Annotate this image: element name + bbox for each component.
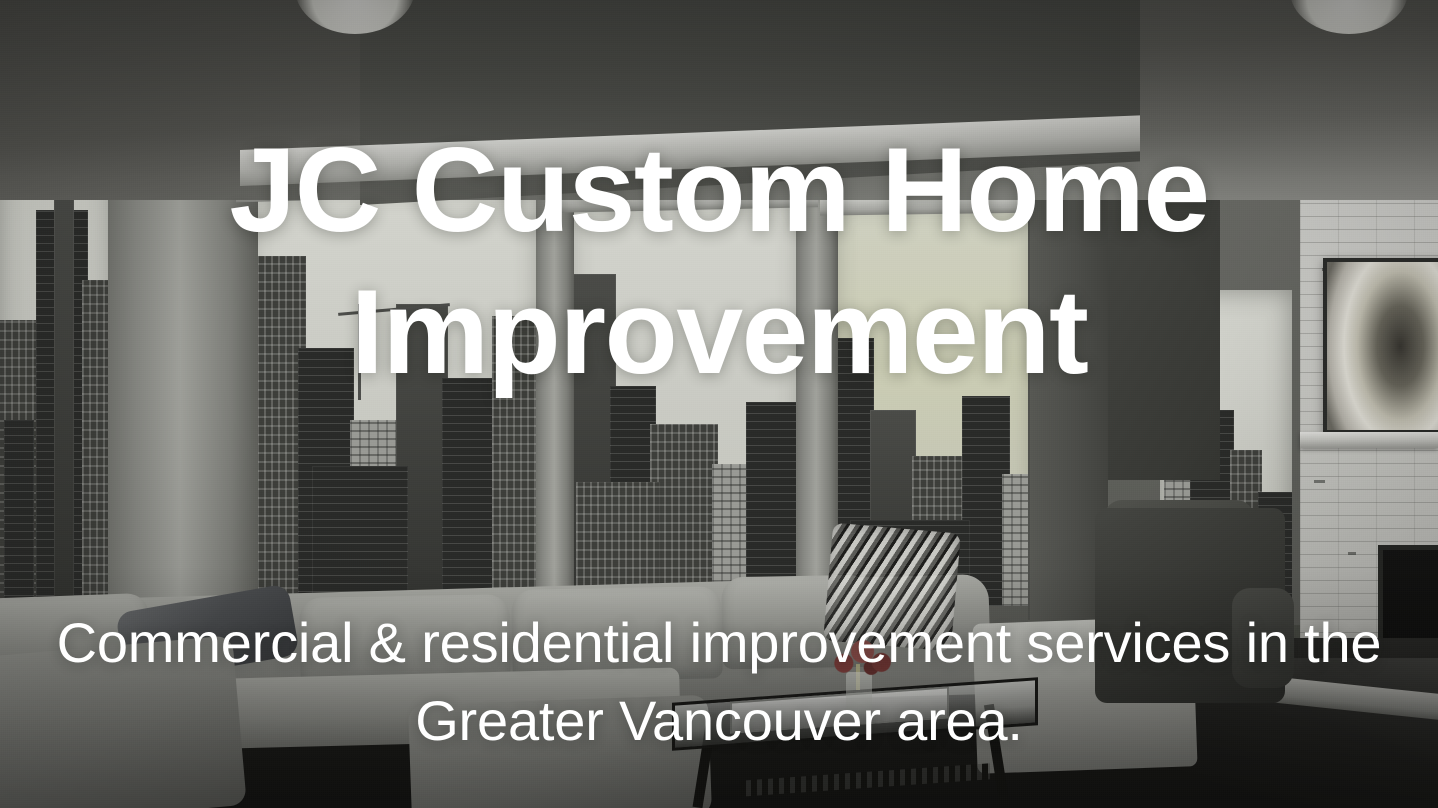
window-pane-center-right [566,196,804,614]
sofa-pillow-patterned [823,523,961,652]
window-pane-left [0,168,114,620]
title-slide: JC Custom Home Improvement Commercial & … [0,0,1438,808]
window-mullion-1 [536,176,574,624]
sofa-cushion [511,586,723,682]
background-photo [0,0,1438,808]
red-flowers [828,638,900,680]
sofa-arm-left [0,635,247,808]
fireplace-mantel [1300,432,1438,448]
sofa-arm-center [408,695,712,808]
abstract-wall-art [1323,258,1438,434]
recliner-arm [1232,588,1294,688]
wall-column-1 [108,160,258,630]
window-pane-center-left [246,186,542,616]
